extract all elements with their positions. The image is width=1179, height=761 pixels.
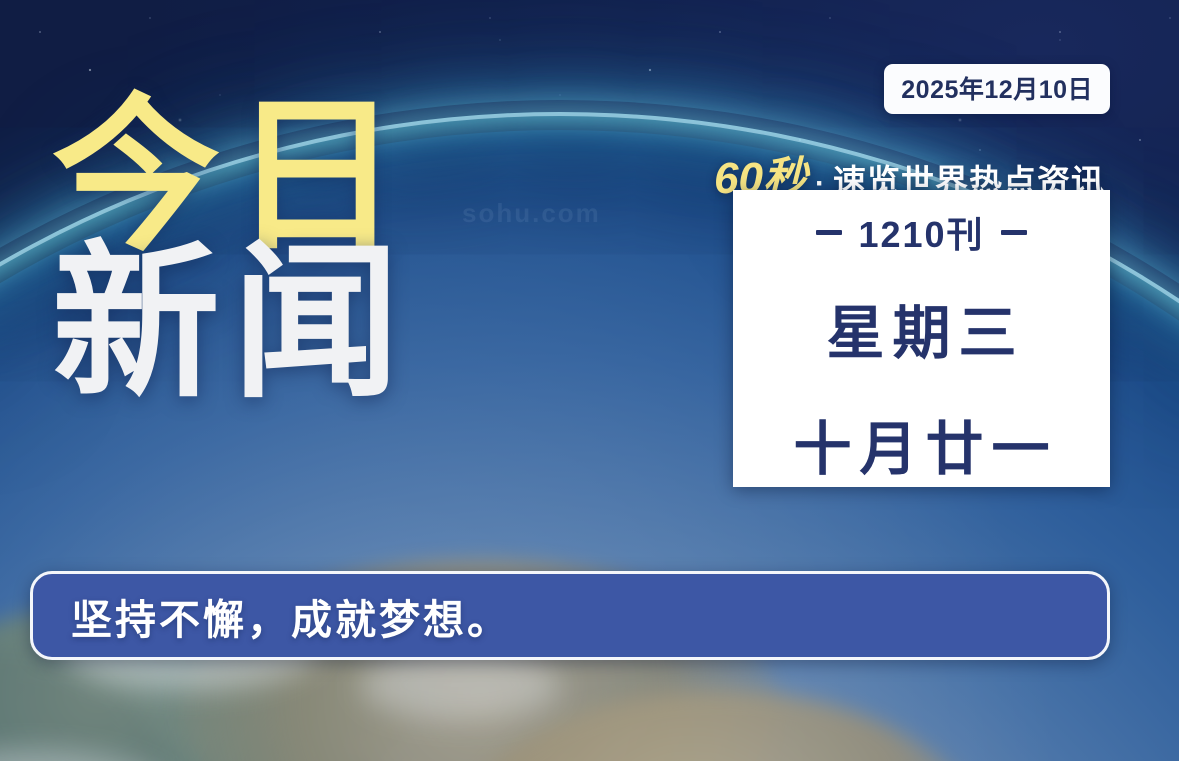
lunar-date-label: 十月廿一 bbox=[785, 402, 1057, 486]
dash-right-icon bbox=[1001, 230, 1027, 235]
issue-card: 1210刊 星期三 十月廿一 bbox=[733, 190, 1110, 487]
weekday-label: 星期三 bbox=[818, 286, 1024, 370]
slogan-text: 坚持不懈，成就梦想。 bbox=[33, 586, 511, 646]
slogan-banner: 坚持不懈，成就梦想。 bbox=[30, 571, 1110, 660]
watermark-text: sohu.com bbox=[462, 198, 601, 229]
news-poster: sohu.com 今日 新闻 2025年12月10日 60秒 · 速览世界热点资… bbox=[0, 0, 1179, 761]
dash-left-icon bbox=[816, 230, 842, 235]
issue-number: 1210刊 bbox=[858, 206, 984, 258]
issue-number-row: 1210刊 bbox=[816, 206, 1026, 258]
page-title: 今日 新闻 bbox=[52, 96, 412, 405]
date-badge: 2025年12月10日 bbox=[884, 64, 1110, 114]
title-line-news: 新闻 bbox=[52, 243, 412, 404]
